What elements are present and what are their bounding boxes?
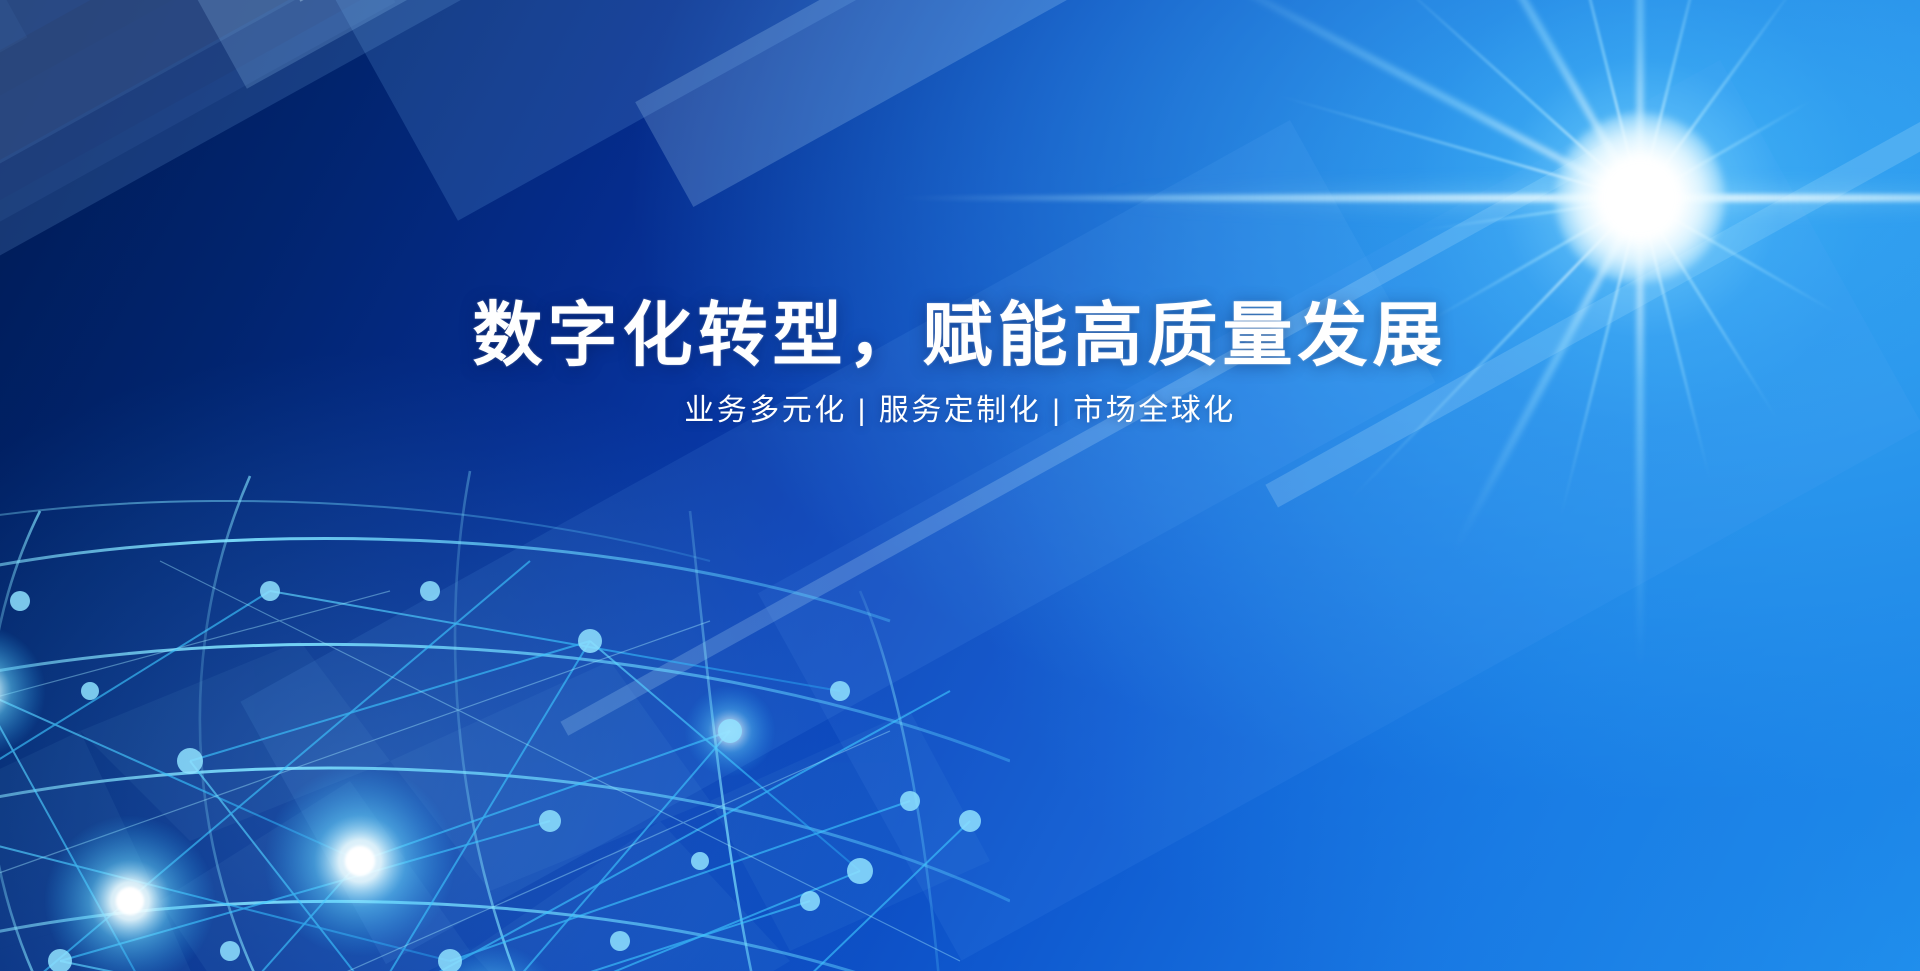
page-title: 数字化转型，赋能高质量发展: [0, 300, 1920, 370]
geo-band: [1265, 0, 1920, 508]
hero-banner: 数字化转型，赋能高质量发展 业务多元化 | 服务定制化 | 市场全球化: [0, 0, 1920, 971]
geo-band: [0, 0, 1056, 276]
geo-band: [0, 0, 707, 245]
page-subtitle: 业务多元化 | 服务定制化 | 市场全球化: [0, 396, 1920, 426]
geo-band: [298, 0, 1490, 221]
geo-band: [635, 0, 1148, 207]
geo-band: [283, 0, 1437, 2]
geo-band: [174, 0, 1253, 89]
banner-copy: 数字化转型，赋能高质量发展 业务多元化 | 服务定制化 | 市场全球化: [0, 300, 1920, 426]
